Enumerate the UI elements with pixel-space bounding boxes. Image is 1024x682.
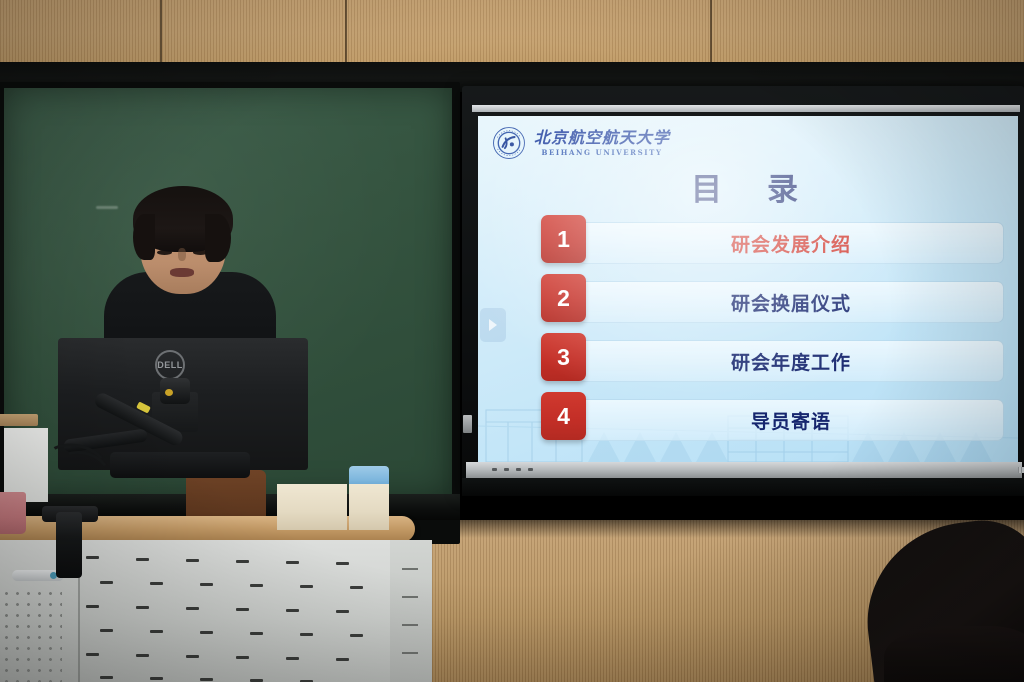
bezel-control-icon[interactable] [516, 468, 521, 471]
bezel-control-icon[interactable] [504, 468, 509, 471]
display-bottom-bezel [466, 462, 1022, 478]
cabinet-slot [402, 568, 418, 570]
slide-title: 目 录 [478, 164, 1018, 209]
speaker-grille [1018, 467, 1024, 473]
microphone-knob[interactable] [165, 389, 173, 396]
university-seal-icon: · [492, 126, 526, 160]
paper-box [277, 484, 347, 530]
toc-label: 研会换届仪式 [578, 281, 1004, 323]
cabinet-slot [402, 624, 418, 626]
play-button-overlay-icon[interactable] [480, 308, 506, 342]
microphone-clamp [56, 512, 82, 578]
display-screen[interactable]: · 北京航空航天大学 BEIHANG UNIVERSITY 目 录 1 研会发展… [478, 116, 1018, 462]
bezel-control-icon[interactable] [492, 468, 497, 471]
toc-label: 研会年度工作 [578, 340, 1004, 382]
side-shelf [0, 414, 38, 426]
audience-member-shoulder [884, 626, 1024, 682]
cup [0, 492, 26, 534]
classroom-scene: · 北京航空航天大学 BEIHANG UNIVERSITY 目 录 1 研会发展… [0, 0, 1024, 682]
toc-item[interactable]: 3 研会年度工作 [536, 333, 1004, 392]
tissue-box-lid [349, 466, 389, 486]
bezel-side-button[interactable] [463, 415, 472, 433]
nose [178, 248, 186, 261]
table-of-contents: 1 研会发展介绍 2 研会换届仪式 3 研会年度工作 4 导员寄语 [536, 215, 1004, 451]
toc-item[interactable]: 4 导员寄语 [536, 392, 1004, 451]
cabinet-slot [402, 652, 418, 654]
tissue-box [349, 484, 389, 530]
display-top-strip [472, 105, 1020, 112]
monitor-stand-base [110, 452, 250, 478]
chalk-smudge [96, 206, 118, 209]
toc-label: 导员寄语 [578, 399, 1004, 441]
podium-side-cabinet [390, 540, 432, 682]
bezel-power-icon[interactable] [528, 468, 533, 471]
podium-perforated-panel [0, 588, 62, 682]
presenter-hair-left [133, 214, 155, 260]
toc-item[interactable]: 1 研会发展介绍 [536, 215, 1004, 274]
cabinet-slot [402, 596, 418, 598]
display-chin [462, 478, 1024, 496]
presentation-slide: · 北京航空航天大学 BEIHANG UNIVERSITY 目 录 1 研会发展… [478, 116, 1018, 462]
university-name-cn: 北京航空航天大学 [534, 130, 670, 146]
mouth [170, 268, 194, 277]
podium-vent-slots [86, 556, 386, 682]
toc-label: 研会发展介绍 [578, 222, 1004, 264]
university-name-en: BEIHANG UNIVERSITY [534, 149, 670, 156]
presenter-hair-right [205, 214, 231, 262]
toc-item[interactable]: 2 研会换届仪式 [536, 274, 1004, 333]
university-logo: · 北京航空航天大学 BEIHANG UNIVERSITY [492, 126, 670, 160]
dell-logo: DELL [155, 350, 185, 380]
